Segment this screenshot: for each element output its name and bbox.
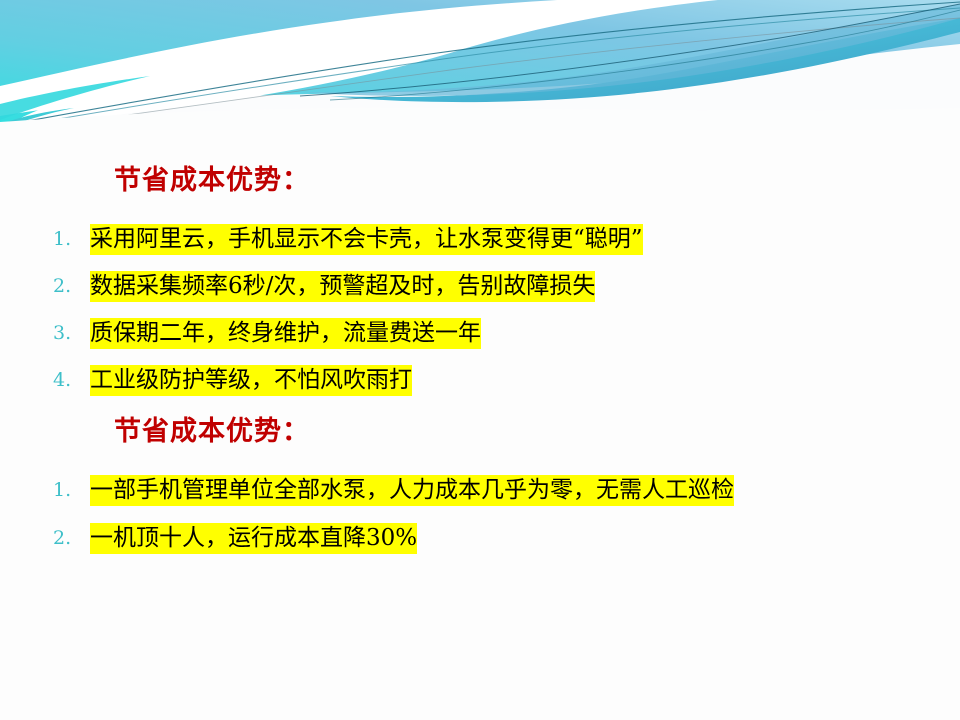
list-item-text: 数据采集频率6秒/次，预警超及时，告别故障损失 [90, 271, 595, 301]
list-item-number: 1. [53, 481, 83, 500]
list-item-number: 3. [53, 324, 83, 343]
list-item-number: 4. [53, 371, 83, 390]
list-item-text: 一机顶十人，运行成本直降30% [90, 523, 417, 553]
wave-graphic [0, 0, 960, 130]
list-item-number: 2. [53, 529, 83, 548]
highlighted-text: 一部手机管理单位全部水泵，人力成本几乎为零，无需人工巡检 [90, 475, 734, 506]
presentation-slide: 节省成本优势： 1. 采用阿里云，手机显示不会卡壳，让水泵变得更“聪明” 2. … [0, 0, 960, 720]
list-item-number: 2. [53, 277, 83, 296]
highlighted-text: 一机顶十人，运行成本直降30% [90, 523, 417, 554]
highlighted-text: 数据采集频率6秒/次，预警超及时，告别故障损失 [90, 271, 595, 302]
highlighted-text: 工业级防护等级，不怕风吹雨打 [90, 365, 412, 396]
section-heading-1: 节省成本优势： [114, 167, 310, 195]
decorative-wave-banner [0, 0, 960, 130]
list-item-text: 质保期二年，终身维护，流量费送一年 [90, 318, 481, 348]
list-item-number: 1. [53, 230, 83, 249]
list-item-text: 一部手机管理单位全部水泵，人力成本几乎为零，无需人工巡检 [90, 475, 734, 505]
section-heading-2: 节省成本优势： [114, 418, 310, 446]
highlighted-text: 质保期二年，终身维护，流量费送一年 [90, 318, 481, 349]
highlighted-text: 采用阿里云，手机显示不会卡壳，让水泵变得更“聪明” [90, 224, 643, 255]
list-item-text: 工业级防护等级，不怕风吹雨打 [90, 365, 412, 395]
list-item-text: 采用阿里云，手机显示不会卡壳，让水泵变得更“聪明” [90, 224, 643, 254]
